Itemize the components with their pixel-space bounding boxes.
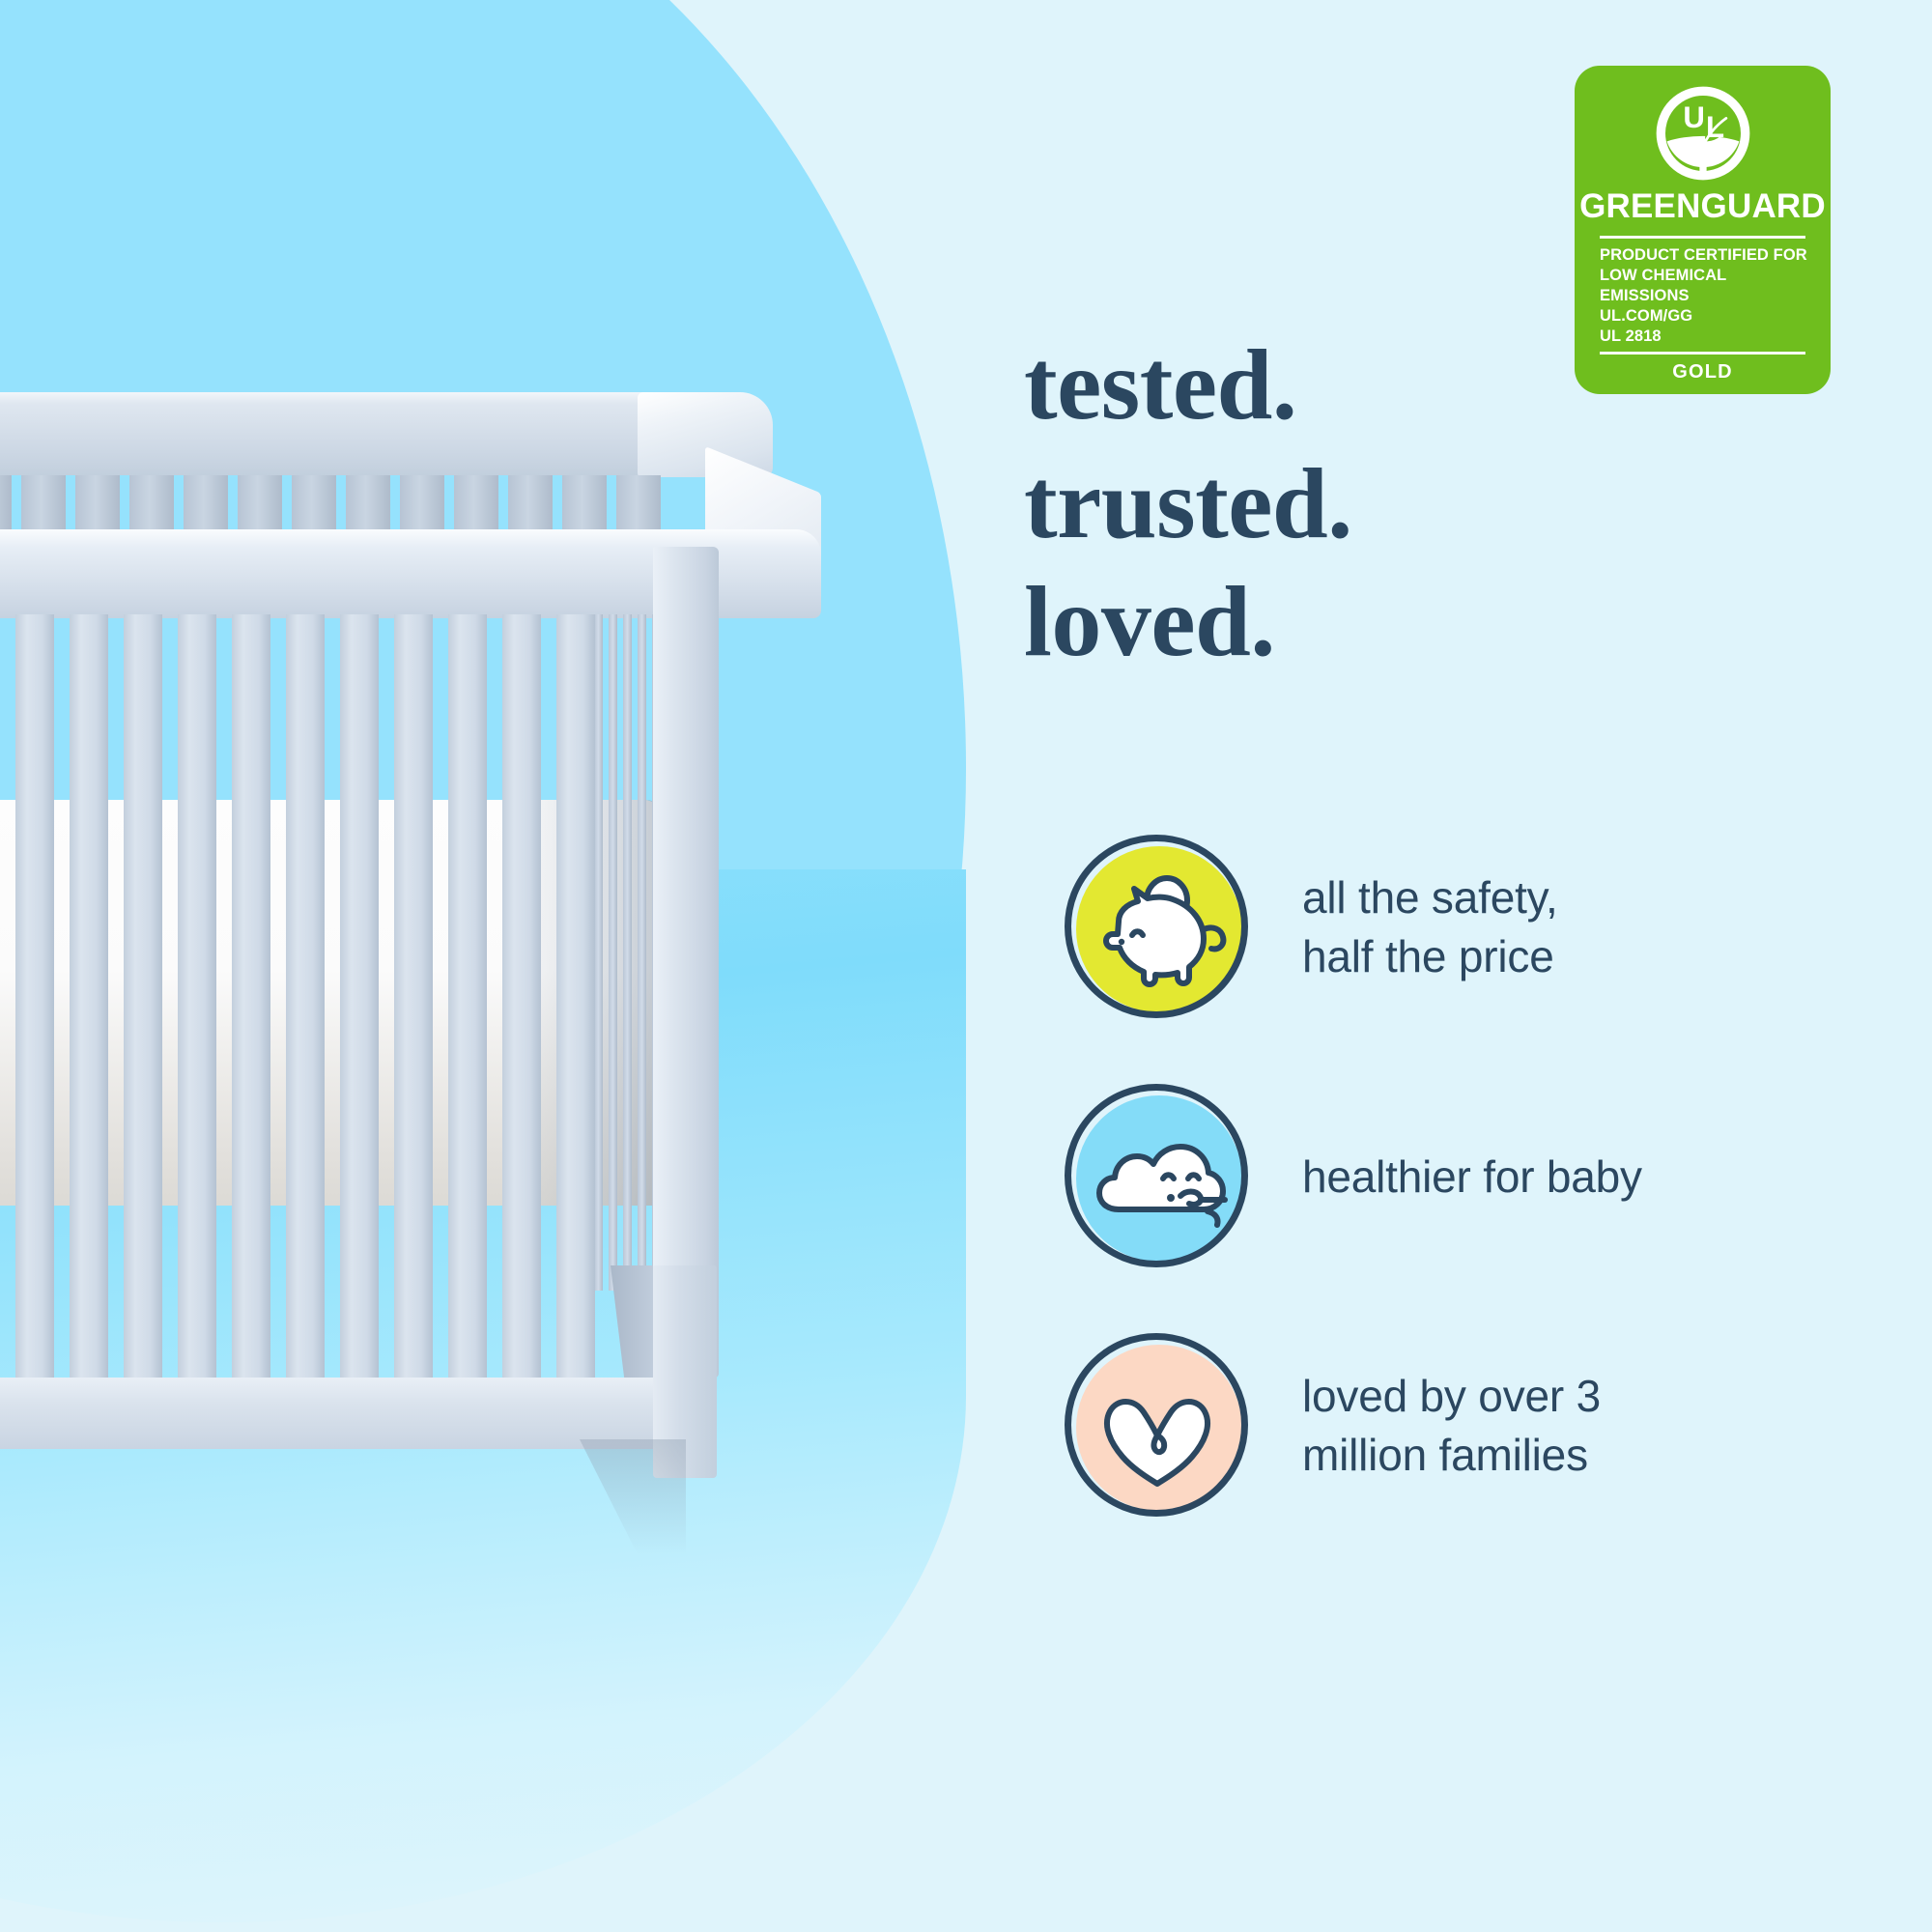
cert-line-1: PRODUCT CERTIFIED FOR [1600,245,1812,266]
benefit-item: healthier for baby [1063,1080,1893,1273]
crib-slat [286,614,325,1397]
crib-slat [232,614,270,1397]
crib-back-slat [454,475,498,535]
crib-back-slats [0,475,734,535]
heart-icon [1063,1331,1252,1520]
crib-product-image [0,367,850,1401]
crib-back-rail [0,392,696,475]
crib-back-slat [0,475,12,535]
benefits-list: all the safety, half the price healthier… [1063,831,1893,1522]
piggy-bank-icon [1063,833,1252,1022]
headline-line-2: trusted. [1024,445,1816,564]
svg-text:U: U [1683,100,1705,134]
cert-line-2: LOW CHEMICAL EMISSIONS [1600,266,1812,306]
headline-line-3: loved. [1024,563,1816,682]
benefit-label: all the safety, half the price [1302,868,1558,985]
headline: tested. trusted. loved. [1024,327,1816,682]
greenguard-title: GREENGUARD [1575,189,1831,223]
crib-back-slat [21,475,66,535]
cert-line-3: UL.COM/GG [1600,306,1812,327]
crib-back-slat [129,475,174,535]
crib-front-slats [0,614,657,1397]
crib-back-slat [75,475,120,535]
crib-back-slat [616,475,661,535]
crib-back-slat [400,475,444,535]
crib-back-slat [508,475,553,535]
crib-back-slat [346,475,390,535]
svg-text:L: L [1705,110,1723,144]
crib-slat [15,614,54,1397]
badge-divider-top [1600,236,1805,239]
crib-slat [70,614,108,1397]
benefit-label: healthier for baby [1302,1148,1642,1207]
ul-greenguard-leaf-icon: U L [1575,79,1831,187]
crib-back-slat [562,475,607,535]
crib-slat [556,614,595,1397]
crib-slat [394,614,433,1397]
crib-back-slat [184,475,228,535]
crib-slat [340,614,379,1397]
crib-bottom-rail [0,1378,696,1449]
crib-slat [502,614,541,1397]
headline-line-1: tested. [1024,327,1816,445]
crib-slat [448,614,487,1397]
benefit-label: loved by over 3 million families [1302,1367,1601,1484]
crib-back-slat [292,475,336,535]
crib-slat [178,614,216,1397]
smiling-cloud-icon [1063,1082,1252,1271]
crib-back-slat [238,475,282,535]
crib-slat [124,614,162,1397]
benefit-item: all the safety, half the price [1063,831,1893,1024]
crib-corner-post [653,547,719,1378]
benefit-item: loved by over 3 million families [1063,1329,1893,1522]
marketing-image: U L GREENGUARD PRODUCT CERTIFIED FOR LOW… [0,0,1932,1932]
